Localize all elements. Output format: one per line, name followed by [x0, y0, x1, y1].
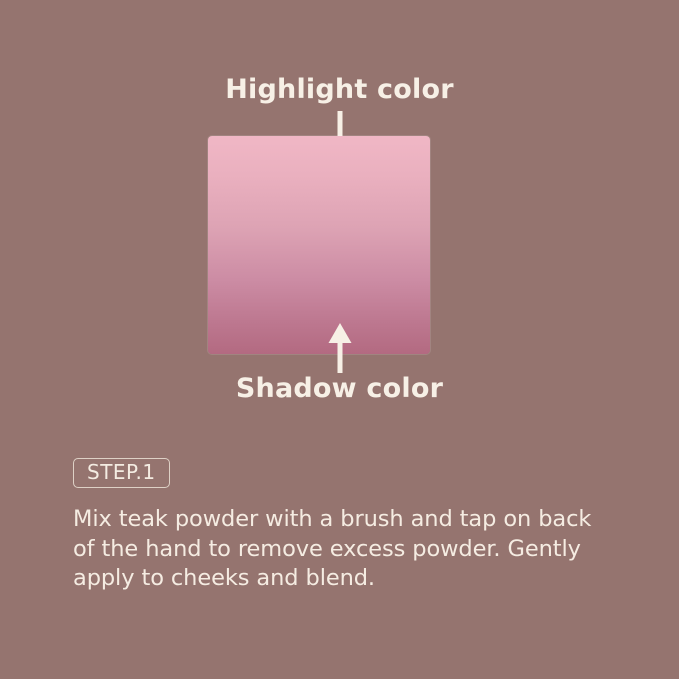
color-swatch-diagram: Highlight color Shadow color	[0, 0, 679, 430]
arrow-up-icon	[327, 321, 353, 373]
instruction-card: Highlight color Shadow color STEP.1 Mix …	[0, 0, 679, 679]
step-instruction-text: Mix teak powder with a brush and tap on …	[73, 505, 618, 594]
color-gradient-swatch	[208, 136, 430, 354]
shadow-color-label: Shadow color	[0, 375, 679, 402]
highlight-color-label: Highlight color	[0, 76, 679, 103]
step-badge: STEP.1	[73, 458, 170, 488]
step-section: STEP.1 Mix teak powder with a brush and …	[73, 458, 618, 594]
